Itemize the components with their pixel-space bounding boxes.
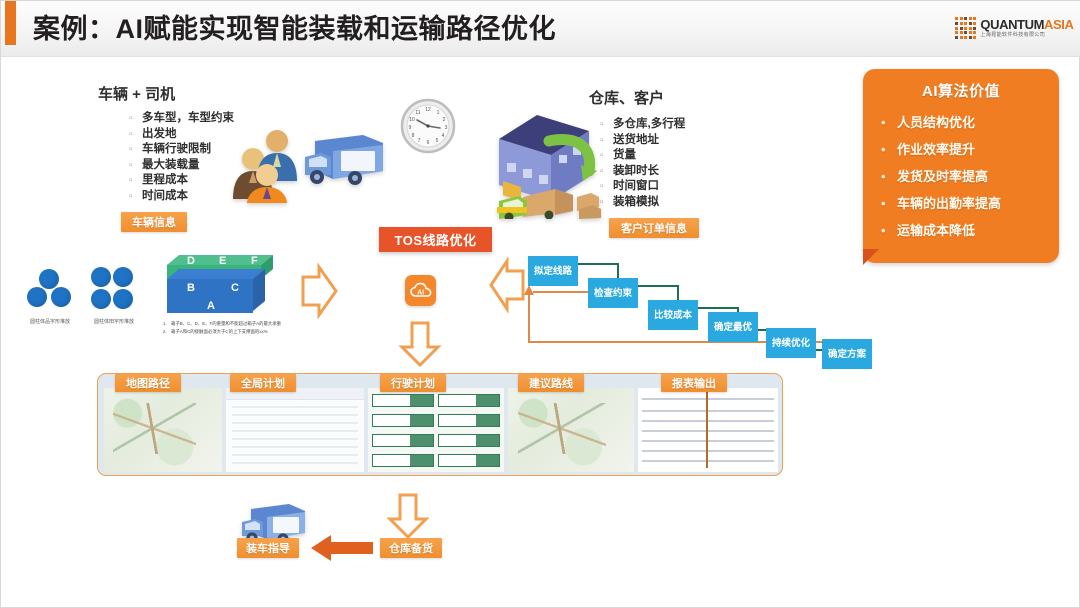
svg-text:5: 5 <box>436 138 439 144</box>
flow-step-4: 确定最优 <box>708 312 758 342</box>
svg-text:6: 6 <box>427 140 430 146</box>
logo-subtitle: 上海昆能软件科技有限公司 <box>980 33 1073 38</box>
box-stack-diagram: D E F B C A <box>161 249 277 319</box>
logo-name-main: QUANTUM <box>980 17 1044 32</box>
list-item: 时间窗口 <box>599 179 685 195</box>
stacking-caption-1: 圆柱体品字形堆放 <box>14 318 86 325</box>
note-number: 1. <box>163 321 167 327</box>
list-item: 车辆行驶限制 <box>128 142 234 158</box>
chevron-left-icon <box>489 257 527 313</box>
truck-icon <box>301 129 389 191</box>
svg-text:8: 8 <box>412 133 415 139</box>
svg-text:AI: AI <box>417 289 424 296</box>
company-logo: QUANTUMASIA 上海昆能软件科技有限公司 <box>955 9 1067 47</box>
list-item: 作业效率提升 <box>881 136 1059 163</box>
slide-header: 案例：AI赋能实现智能装载和运输路径优化 QUANTUMASIA 上海昆能软件科… <box>1 1 1080 57</box>
flow-step-5: 持续优化 <box>766 328 816 358</box>
list-item: 发货及时率提高 <box>881 163 1059 190</box>
list-item: 装卸时长 <box>599 164 685 180</box>
map-screenshot[interactable] <box>104 388 222 472</box>
stacking-caption-2: 圆柱体田字形堆放 <box>78 318 150 325</box>
ai-cloud-icon: AI <box>405 275 436 306</box>
svg-text:F: F <box>251 255 258 267</box>
flow-step-2: 检查约束 <box>588 278 638 308</box>
clock-icon: 1212 345 678 91011 <box>397 97 459 159</box>
screen-label-driving-plan[interactable]: 行驶计划 <box>380 374 446 392</box>
logo-name-accent: ASIA <box>1044 17 1073 32</box>
ai-value-title: AI算法价值 <box>863 80 1059 101</box>
svg-text:9: 9 <box>409 125 412 131</box>
flow-connector <box>695 307 739 309</box>
loading-guidance-pill[interactable]: 装车指导 <box>237 538 299 558</box>
arrow-down-icon <box>397 321 443 367</box>
svg-text:12: 12 <box>425 107 431 113</box>
screen-label-report-output[interactable]: 报表输出 <box>661 374 727 392</box>
customer-order-info-pill[interactable]: 客户订单信息 <box>609 218 699 238</box>
svg-text:D: D <box>187 255 195 267</box>
page-title: 案例：AI赋能实现智能装载和运输路径优化 <box>33 7 556 46</box>
cylinder-square-diagram <box>89 267 139 313</box>
ai-value-callout: AI算法价值 人员结构优化 作业效率提升 发货及时率提高 车辆的出勤率提高 运输… <box>863 69 1059 263</box>
flow-connector <box>635 285 679 287</box>
svg-text:3: 3 <box>445 125 448 131</box>
loading-constraint-notes: 1. 箱子B、C、D、E、F的重量和不能超过箱子A的最大承重 2. 箱子A和C的… <box>163 321 291 337</box>
list-item: 装箱模拟 <box>599 195 685 211</box>
driving-plan-screenshot[interactable] <box>368 388 504 472</box>
feedback-loop <box>528 293 530 343</box>
list-item: 人员结构优化 <box>881 109 1059 136</box>
svg-text:7: 7 <box>418 138 421 144</box>
header-accent-bar <box>5 1 16 45</box>
note-text: 箱子A和C的接触面必须大于C的上下支撑面的xx% <box>171 329 268 334</box>
flow-connector <box>575 263 619 265</box>
report-output-screenshot[interactable] <box>638 388 778 472</box>
vehicle-info-pill[interactable]: 车辆信息 <box>121 212 187 232</box>
cylinder-pyramid-diagram <box>25 269 75 313</box>
list-item: 1. 箱子B、C、D、E、F的重量和不能超过箱子A的最大承重 <box>163 321 291 327</box>
list-item: 2. 箱子A和C的接触面必须大于C的上下支撑面的xx% <box>163 329 291 335</box>
vehicle-panel-bullets: 多车型，车型约束 出发地 车辆行驶限制 最大装载量 里程成本 时间成本 <box>128 111 234 205</box>
screen-label-suggested-route[interactable]: 建议路线 <box>518 374 584 392</box>
list-item: 出发地 <box>128 127 234 143</box>
global-plan-screenshot[interactable] <box>226 388 364 472</box>
flow-step-1: 拟定线路 <box>528 256 578 286</box>
svg-text:10: 10 <box>409 117 415 123</box>
svg-text:A: A <box>207 300 215 312</box>
logo-dot-grid <box>955 17 976 38</box>
svg-text:1: 1 <box>437 110 440 116</box>
note-number: 2. <box>163 329 167 335</box>
flow-step-3: 比较成本 <box>648 300 698 330</box>
svg-text:B: B <box>187 282 195 294</box>
list-item: 车辆的出勤率提高 <box>881 190 1059 217</box>
chevron-right-icon <box>299 263 339 319</box>
list-item: 运输成本降低 <box>881 217 1059 244</box>
screen-label-map-route[interactable]: 地图路径 <box>115 374 181 392</box>
arrow-down-icon <box>387 493 429 539</box>
warehouse-picking-pill[interactable]: 仓库备货 <box>380 538 442 558</box>
arrow-left-icon <box>309 534 375 562</box>
flow-step-6: 确定方案 <box>822 339 872 369</box>
screen-label-global-plan[interactable]: 全局计划 <box>230 374 296 392</box>
list-item: 货量 <box>599 148 685 164</box>
list-item: 里程成本 <box>128 173 234 189</box>
list-item: 多仓库,多行程 <box>599 117 685 133</box>
list-item: 送货地址 <box>599 133 685 149</box>
list-item: 多车型，车型约束 <box>128 111 234 127</box>
svg-text:2: 2 <box>443 117 446 123</box>
vehicle-panel-title: 车辆 + 司机 <box>98 83 175 104</box>
svg-text:E: E <box>219 255 226 267</box>
suggested-route-screenshot[interactable] <box>508 388 634 472</box>
svg-text:C: C <box>231 282 239 294</box>
warehouse-panel-bullets: 多仓库,多行程 送货地址 货量 装卸时长 时间窗口 装箱模拟 <box>599 117 685 211</box>
note-text: 箱子B、C、D、E、F的重量和不能超过箱子A的最大承重 <box>171 321 281 326</box>
svg-text:11: 11 <box>415 110 420 116</box>
list-item: 最大装载量 <box>128 158 234 174</box>
list-item: 时间成本 <box>128 189 234 205</box>
slide-root: 案例：AI赋能实现智能装载和运输路径优化 QUANTUMASIA 上海昆能软件科… <box>0 0 1080 608</box>
tos-banner: TOS线路优化 <box>379 227 492 252</box>
warehouse-icon <box>493 97 601 219</box>
svg-text:4: 4 <box>442 133 445 139</box>
callout-tail <box>863 249 879 265</box>
ai-value-list: 人员结构优化 作业效率提升 发货及时率提高 车辆的出勤率提高 运输成本降低 <box>881 109 1059 244</box>
